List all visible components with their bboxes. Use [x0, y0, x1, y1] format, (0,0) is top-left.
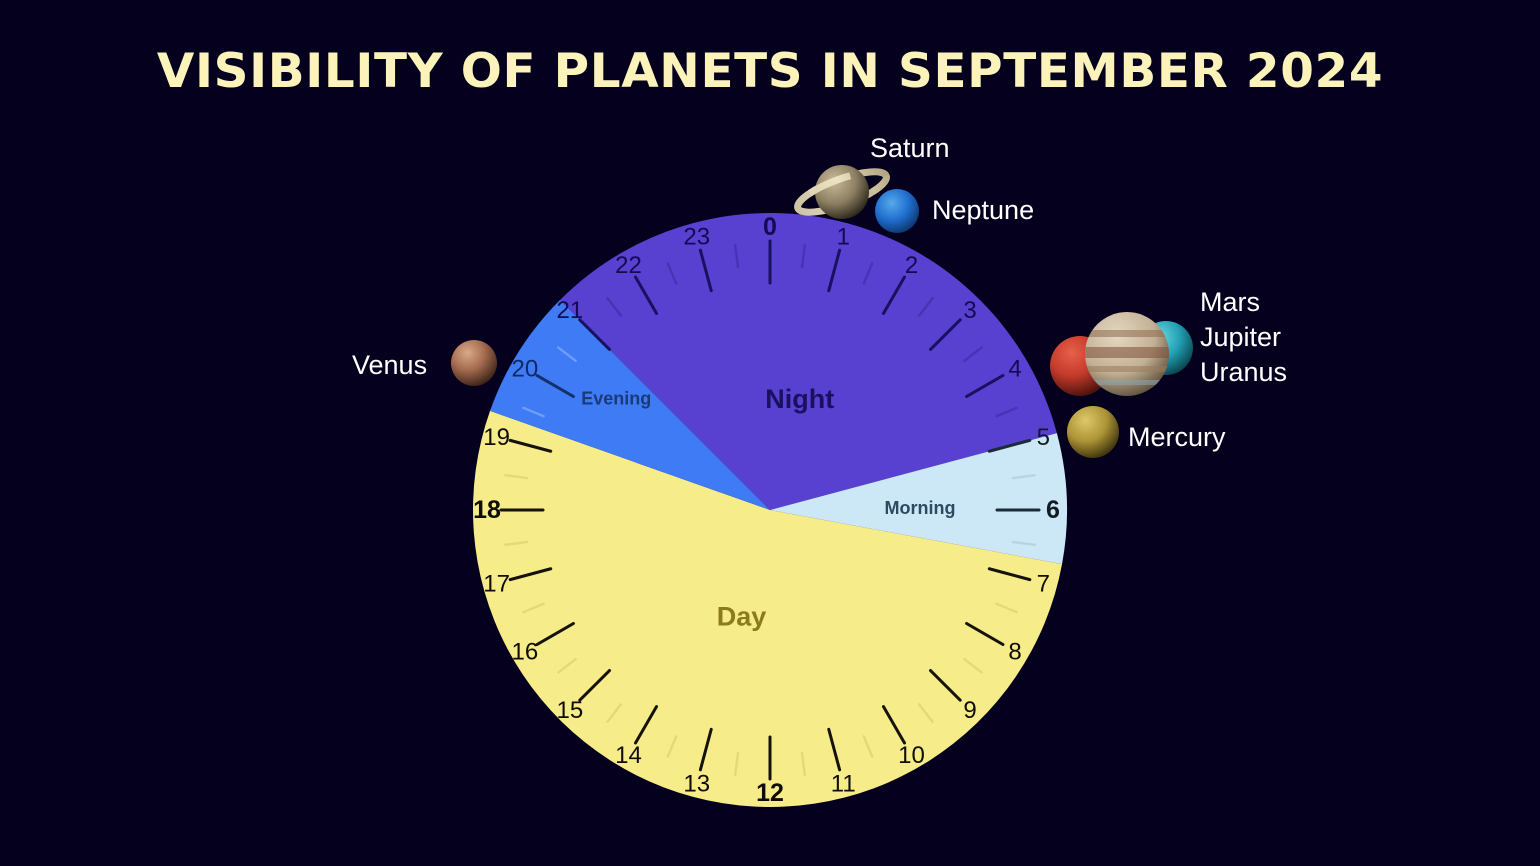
hour-label-23: 23	[683, 224, 710, 251]
hour-label-19: 19	[483, 424, 510, 451]
hour-label-17: 17	[483, 570, 510, 597]
hour-label-7: 7	[1037, 570, 1050, 597]
sector-label-day: Day	[717, 601, 767, 631]
hour-label-16: 16	[512, 639, 539, 666]
hour-label-10: 10	[898, 742, 925, 769]
hour-label-9: 9	[963, 697, 976, 724]
planet-mercury	[1067, 406, 1119, 458]
planet-label-neptune: Neptune	[932, 193, 1034, 227]
hour-label-6: 6	[1046, 496, 1060, 524]
hour-label-1: 1	[837, 224, 850, 251]
sector-label-evening: Evening	[581, 388, 651, 408]
chart-canvas: VISIBILITY OF PLANETS IN SEPTEMBER 2024	[0, 0, 1540, 866]
planet-jupiter	[1085, 312, 1169, 396]
hour-label-3: 3	[963, 297, 976, 324]
hour-label-4: 4	[1008, 356, 1021, 383]
hour-label-11: 11	[831, 770, 856, 797]
hour-label-18: 18	[473, 496, 501, 524]
hour-label-20: 20	[512, 356, 539, 383]
planet-neptune	[875, 189, 919, 233]
hour-label-2: 2	[905, 252, 918, 279]
planet-label-jupiter: Jupiter	[1200, 320, 1281, 354]
sector-label-night: Night	[765, 384, 834, 414]
hour-label-0: 0	[763, 213, 777, 241]
planet-venus	[451, 340, 497, 386]
hour-label-13: 13	[683, 770, 710, 797]
hour-label-14: 14	[615, 742, 642, 769]
hour-label-15: 15	[557, 697, 584, 724]
planet-label-venus: Venus	[352, 348, 427, 382]
hour-label-22: 22	[615, 252, 642, 279]
hour-label-5: 5	[1037, 424, 1050, 451]
hour-label-8: 8	[1008, 639, 1021, 666]
clock-dial: 01234567891011121314151617181920212223 N…	[0, 0, 1540, 866]
planet-label-saturn: Saturn	[870, 131, 950, 165]
hour-label-12: 12	[756, 779, 784, 807]
planet-label-mars: Mars	[1200, 285, 1260, 319]
sector-label-morning: Morning	[884, 498, 955, 518]
hour-label-21: 21	[557, 297, 584, 324]
planet-label-uranus: Uranus	[1200, 355, 1287, 389]
planet-label-mercury: Mercury	[1128, 420, 1226, 454]
